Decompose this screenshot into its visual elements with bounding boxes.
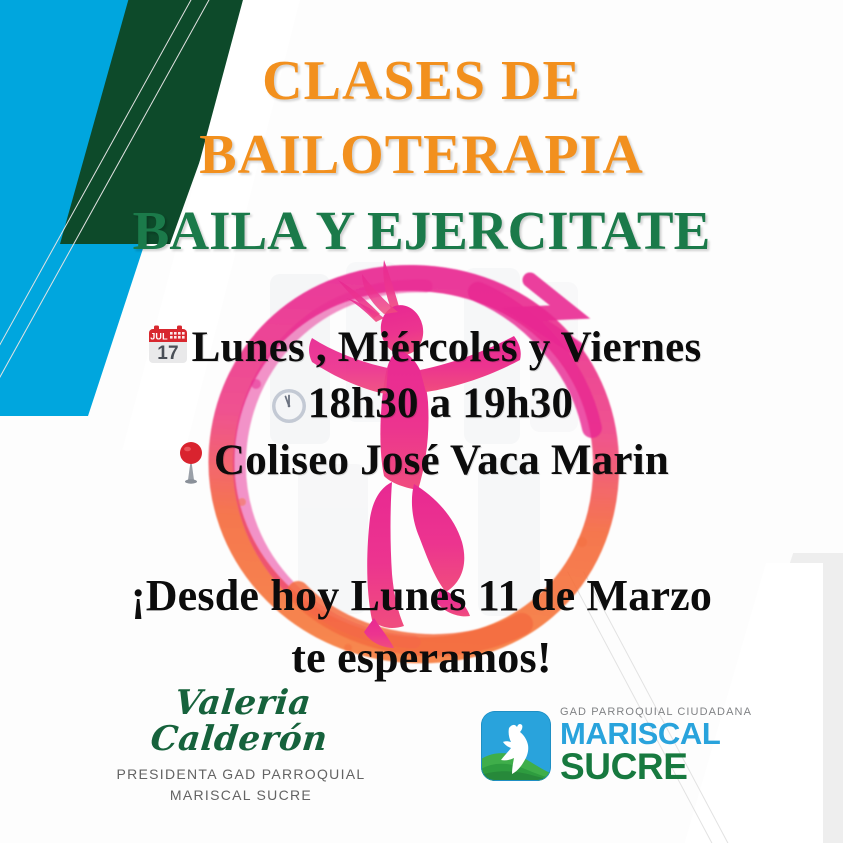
location-pin-icon [174, 440, 208, 484]
poster-canvas: CLASES DE BAILOTERAPIA BAILA Y EJERCITAT… [0, 0, 843, 843]
logo-name-top: MARISCAL [560, 719, 752, 749]
title-line-2: BAILOTERAPIA [0, 118, 843, 192]
clock-icon [270, 387, 308, 425]
horse-head-landscape-icon [481, 711, 551, 781]
logo-wordmark: GAD PARROQUIAL CIUDADANA MARISCAL SUCRE [560, 707, 752, 784]
poster-footer: Valeria Calderón PRESIDENTA GAD PARROQUI… [0, 691, 843, 801]
title-line-1: CLASES DE [0, 44, 843, 118]
organization-logo: GAD PARROQUIAL CIUDADANA MARISCAL SUCRE [481, 707, 752, 784]
detail-text-time: 18h30 a 19h30 [308, 378, 573, 430]
signature-role-line-2: MARISCAL SUCRE [91, 785, 391, 806]
detail-text-days: Lunes , Miércoles y Viernes [192, 322, 702, 374]
poster-subtitle: BAILA Y EJERCITATE [0, 201, 843, 262]
logo-name-bottom: SUCRE [560, 749, 752, 785]
signature-role-line-1: PRESIDENTA GAD PARROQUIAL [91, 764, 391, 785]
event-details-block: JUL 17 Lunes , Miércoles y Viernes [0, 322, 843, 487]
signature-role: PRESIDENTA GAD PARROQUIAL MARISCAL SUCRE [91, 764, 391, 806]
signature-name: Valeria Calderón [87, 686, 395, 757]
detail-row-place: Coliseo José Vaca Marin [0, 435, 843, 487]
closing-line-1: ¡Desde hoy Lunes 11 de Marzo [0, 565, 843, 627]
poster-title-block: CLASES DE BAILOTERAPIA BAILA Y EJERCITAT… [0, 44, 843, 261]
detail-row-time: 18h30 a 19h30 [0, 378, 843, 430]
svg-text:17: 17 [157, 343, 179, 364]
signature-block: Valeria Calderón PRESIDENTA GAD PARROQUI… [91, 686, 391, 806]
closing-block: ¡Desde hoy Lunes 11 de Marzo te esperamo… [0, 565, 843, 690]
closing-line-2: te esperamos! [0, 627, 843, 689]
svg-text:JUL: JUL [150, 332, 168, 342]
calendar-icon: JUL 17 [146, 324, 190, 368]
detail-text-place: Coliseo José Vaca Marin [214, 435, 669, 487]
detail-row-days: JUL 17 Lunes , Miércoles y Viernes [0, 322, 843, 374]
